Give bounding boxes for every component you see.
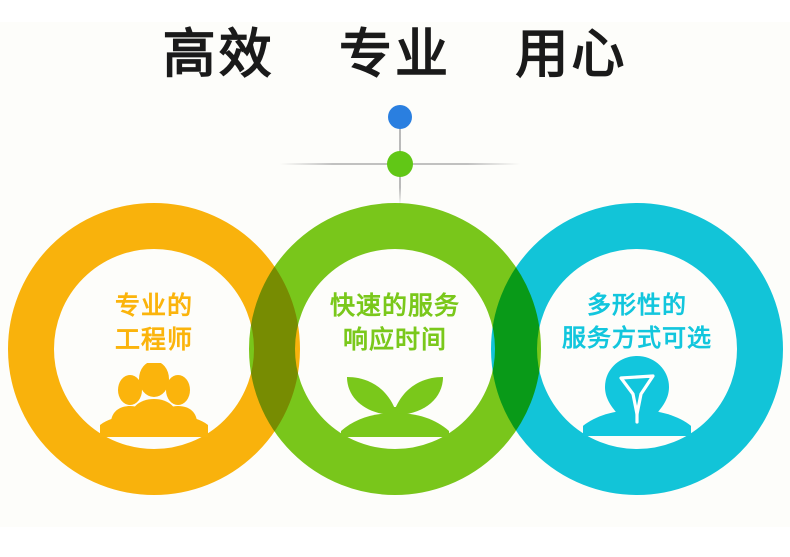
venn-rings: [0, 0, 790, 557]
ring-service-options[interactable]: [491, 203, 783, 495]
infographic-canvas: 高效 专业 用心 专业的 工程师 快速的服务 响应时: [0, 0, 790, 557]
